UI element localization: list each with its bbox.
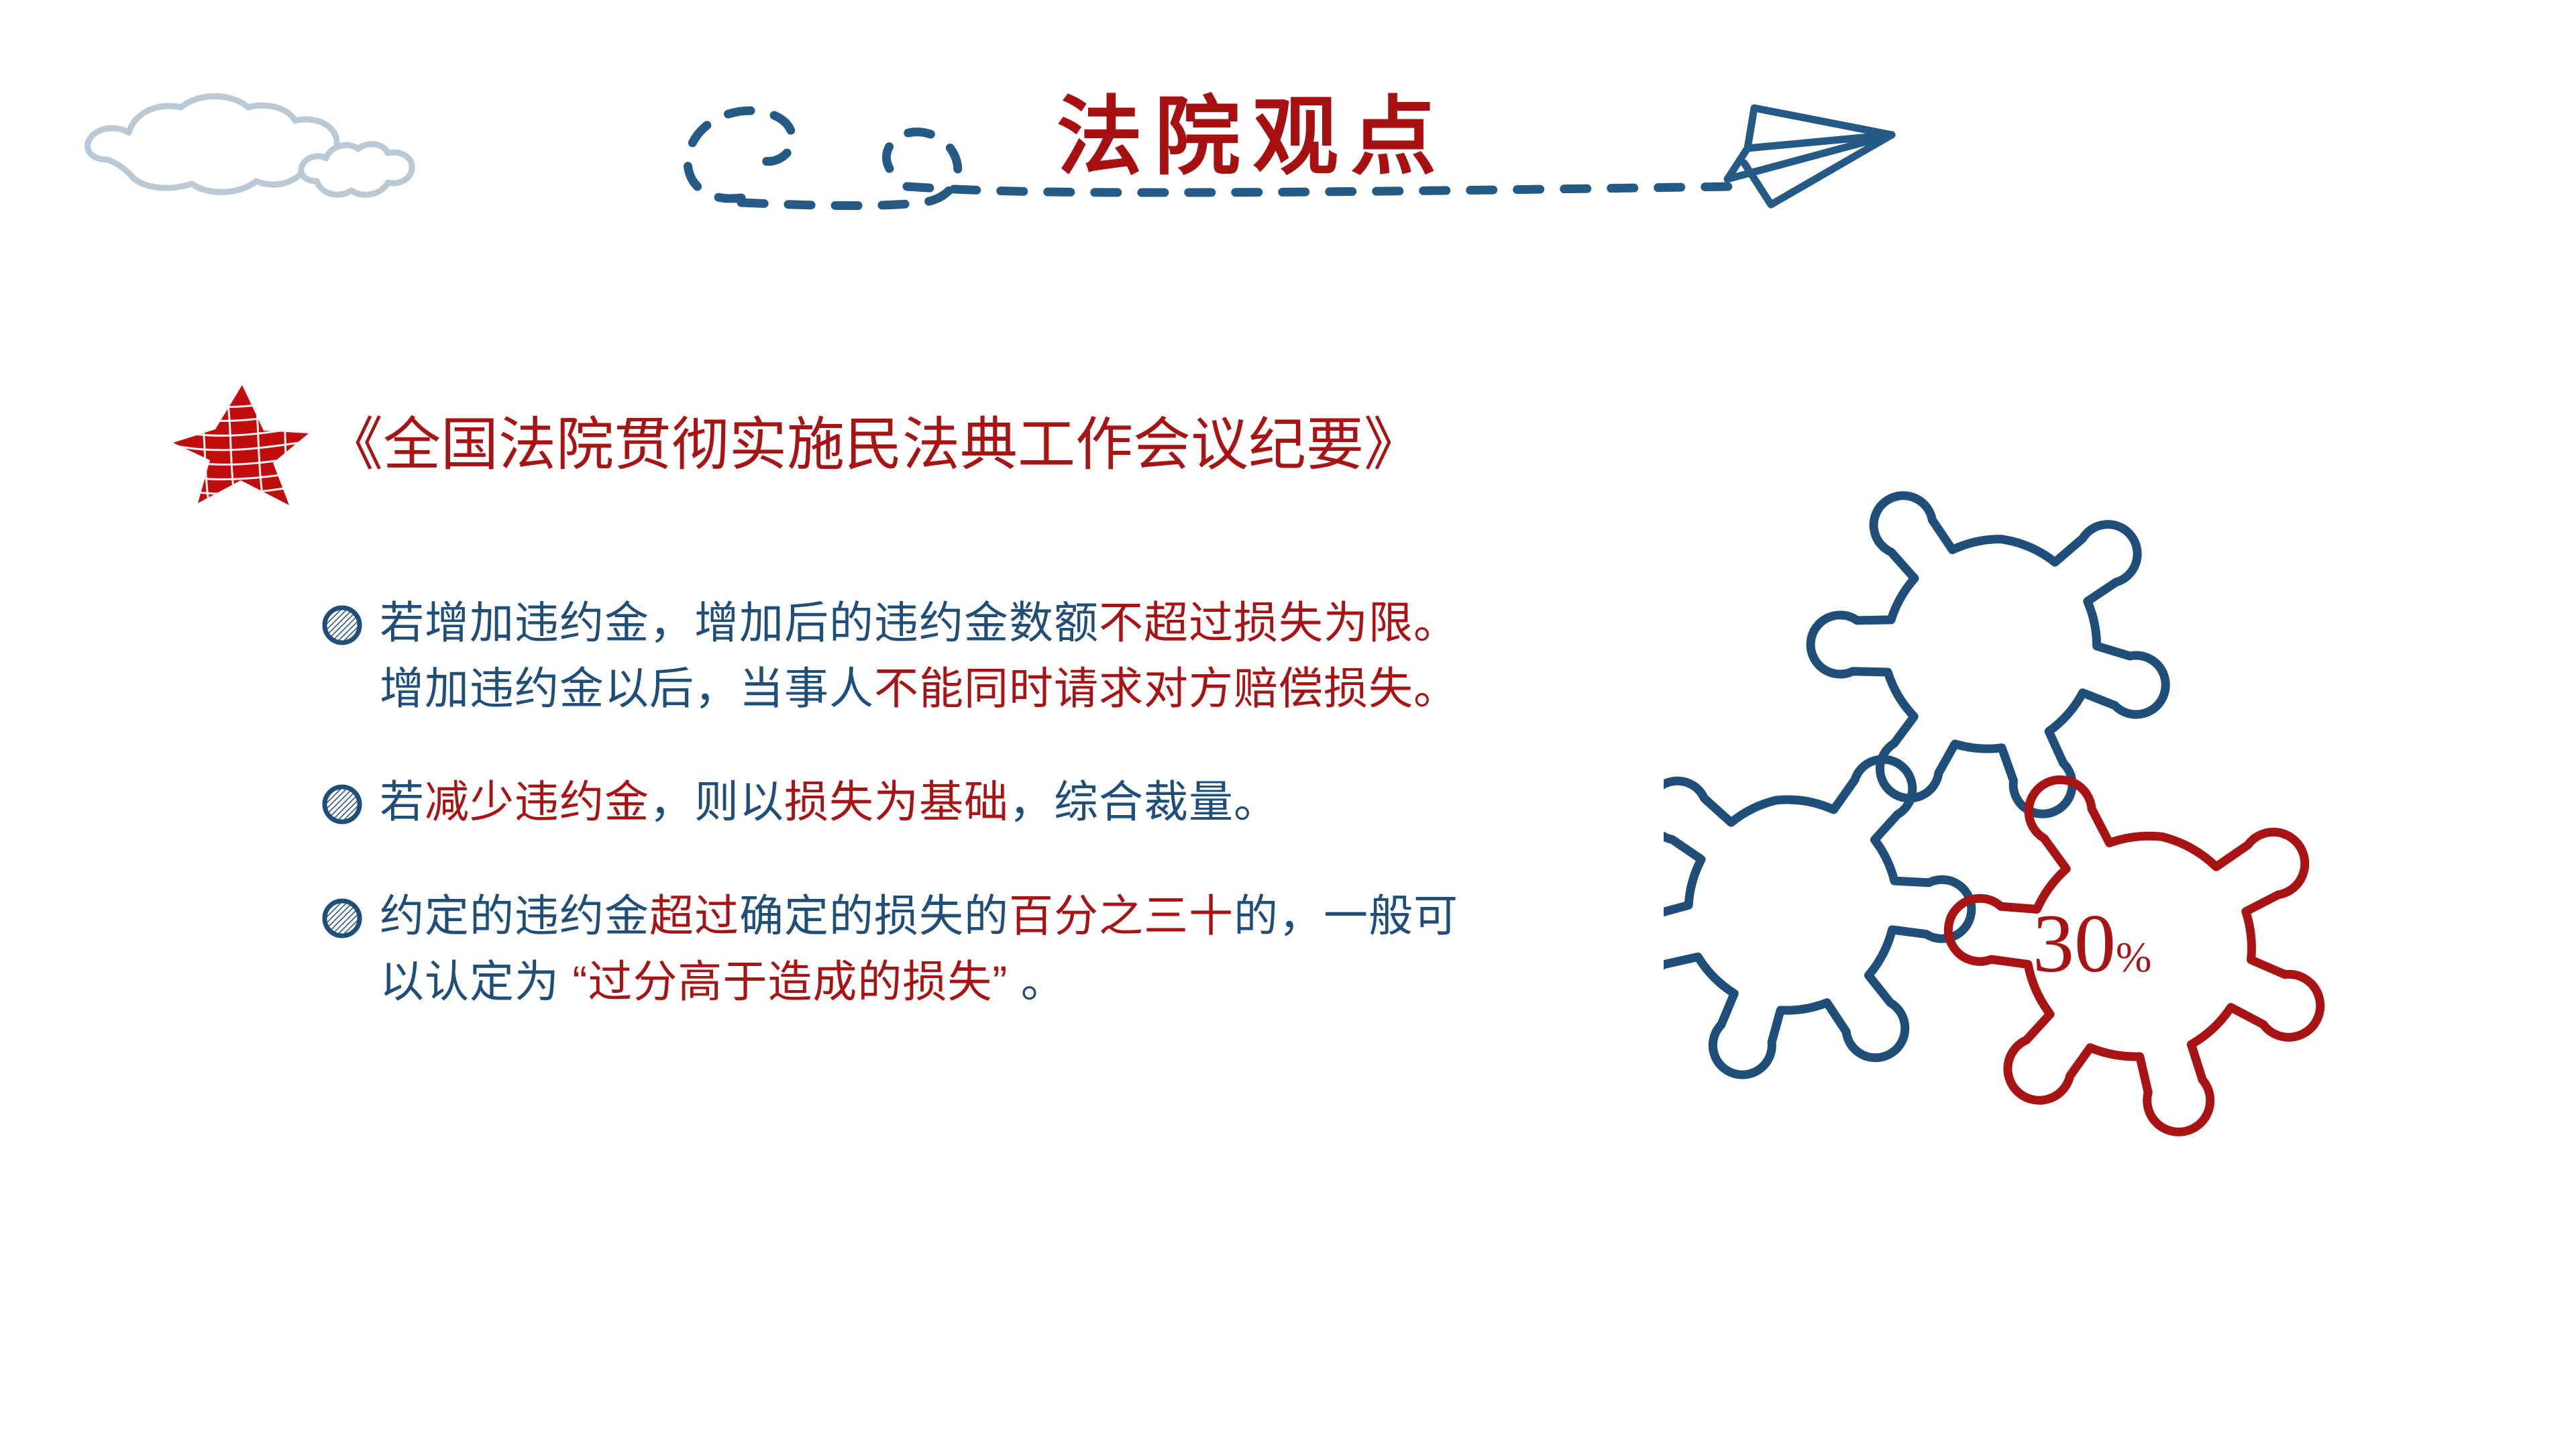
paper-plane-icon xyxy=(1707,84,1922,221)
text-run: 不能同时请求对方赔偿损失。 xyxy=(874,663,1458,713)
hatched-circle-bullet-icon xyxy=(322,605,362,645)
text-run: 不超过损失为限。 xyxy=(1099,598,1458,647)
scribbled-star-icon xyxy=(171,381,312,505)
text-run: 减少违约金 xyxy=(425,777,649,826)
text-run: 的，一般可 xyxy=(1234,891,1458,941)
bullet-line: 若增加违约金，增加后的违约金数额不超过损失为限。 xyxy=(380,590,1458,656)
hatched-circle-bullet-icon xyxy=(322,784,362,824)
list-item: 约定的违约金超过确定的损失的百分之三十的，一般可 以认定为 “过分高于造成的损失… xyxy=(322,883,1717,1014)
section-heading-text: 《全国法院贯彻实施民法典工作会议纪要》 xyxy=(325,416,1421,474)
page-title: 法院观点 xyxy=(1057,77,1553,205)
text-run: 增加违约金以后，当事人 xyxy=(380,663,874,713)
cloud-icon xyxy=(67,74,443,208)
gear-percentage-unit: % xyxy=(2116,933,2151,981)
bullet-line: 约定的违约金超过确定的损失的百分之三十的，一般可 xyxy=(380,883,1458,949)
text-run: 若增加违约金，增加后的违约金数额 xyxy=(380,598,1099,647)
gear-percentage-value: 30 xyxy=(2033,898,2116,989)
bullet-line: 增加违约金以后，当事人不能同时请求对方赔偿损失。 xyxy=(380,656,1458,722)
gears-illustration xyxy=(1664,490,2381,1154)
bullet-line: 若减少违约金，则以损失为基础，综合裁量。 xyxy=(380,769,1279,835)
hatched-circle-bullet-icon xyxy=(322,898,362,938)
text-run: 。 xyxy=(1008,957,1065,1006)
gear-percentage-label: 30% xyxy=(2033,902,2151,985)
list-item-text: 若减少违约金，则以损失为基础，综合裁量。 xyxy=(380,769,1279,835)
list-item: 若增加违约金，增加后的违约金数额不超过损失为限。 增加违约金以后，当事人不能同时… xyxy=(322,590,1717,721)
section-heading: 《全国法院贯彻实施民法典工作会议纪要》 xyxy=(171,392,1421,493)
text-run: 以认定为 xyxy=(380,957,572,1006)
gear-blue-left xyxy=(1664,751,1986,1087)
text-run: 约定的违约金 xyxy=(380,891,649,941)
text-run: 若 xyxy=(380,777,425,826)
text-run: 超过 xyxy=(649,891,739,941)
bullet-list: 若增加违约金，增加后的违约金数额不超过损失为限。 增加违约金以后，当事人不能同时… xyxy=(322,590,1717,1014)
slide-canvas: 法院观点 xyxy=(0,0,2576,1449)
text-run: “过分高于造成的损失” xyxy=(572,957,1008,1006)
list-item-text: 约定的违约金超过确定的损失的百分之三十的，一般可 以认定为 “过分高于造成的损失… xyxy=(380,883,1458,1014)
text-run: ，则以 xyxy=(649,777,784,826)
list-item: 若减少违约金，则以损失为基础，综合裁量。 xyxy=(322,769,1717,835)
page-title-text: 法院观点 xyxy=(1057,77,1553,198)
text-run: 百分之三十 xyxy=(1009,891,1234,941)
text-run: 确定的损失的 xyxy=(739,891,1009,941)
text-run: 损失为基础 xyxy=(784,777,1009,826)
bullet-line: 以认定为 “过分高于造成的损失” 。 xyxy=(380,949,1458,1015)
text-run: ，综合裁量。 xyxy=(1009,777,1279,826)
list-item-text: 若增加违约金，增加后的违约金数额不超过损失为限。 增加违约金以后，当事人不能同时… xyxy=(380,590,1458,721)
